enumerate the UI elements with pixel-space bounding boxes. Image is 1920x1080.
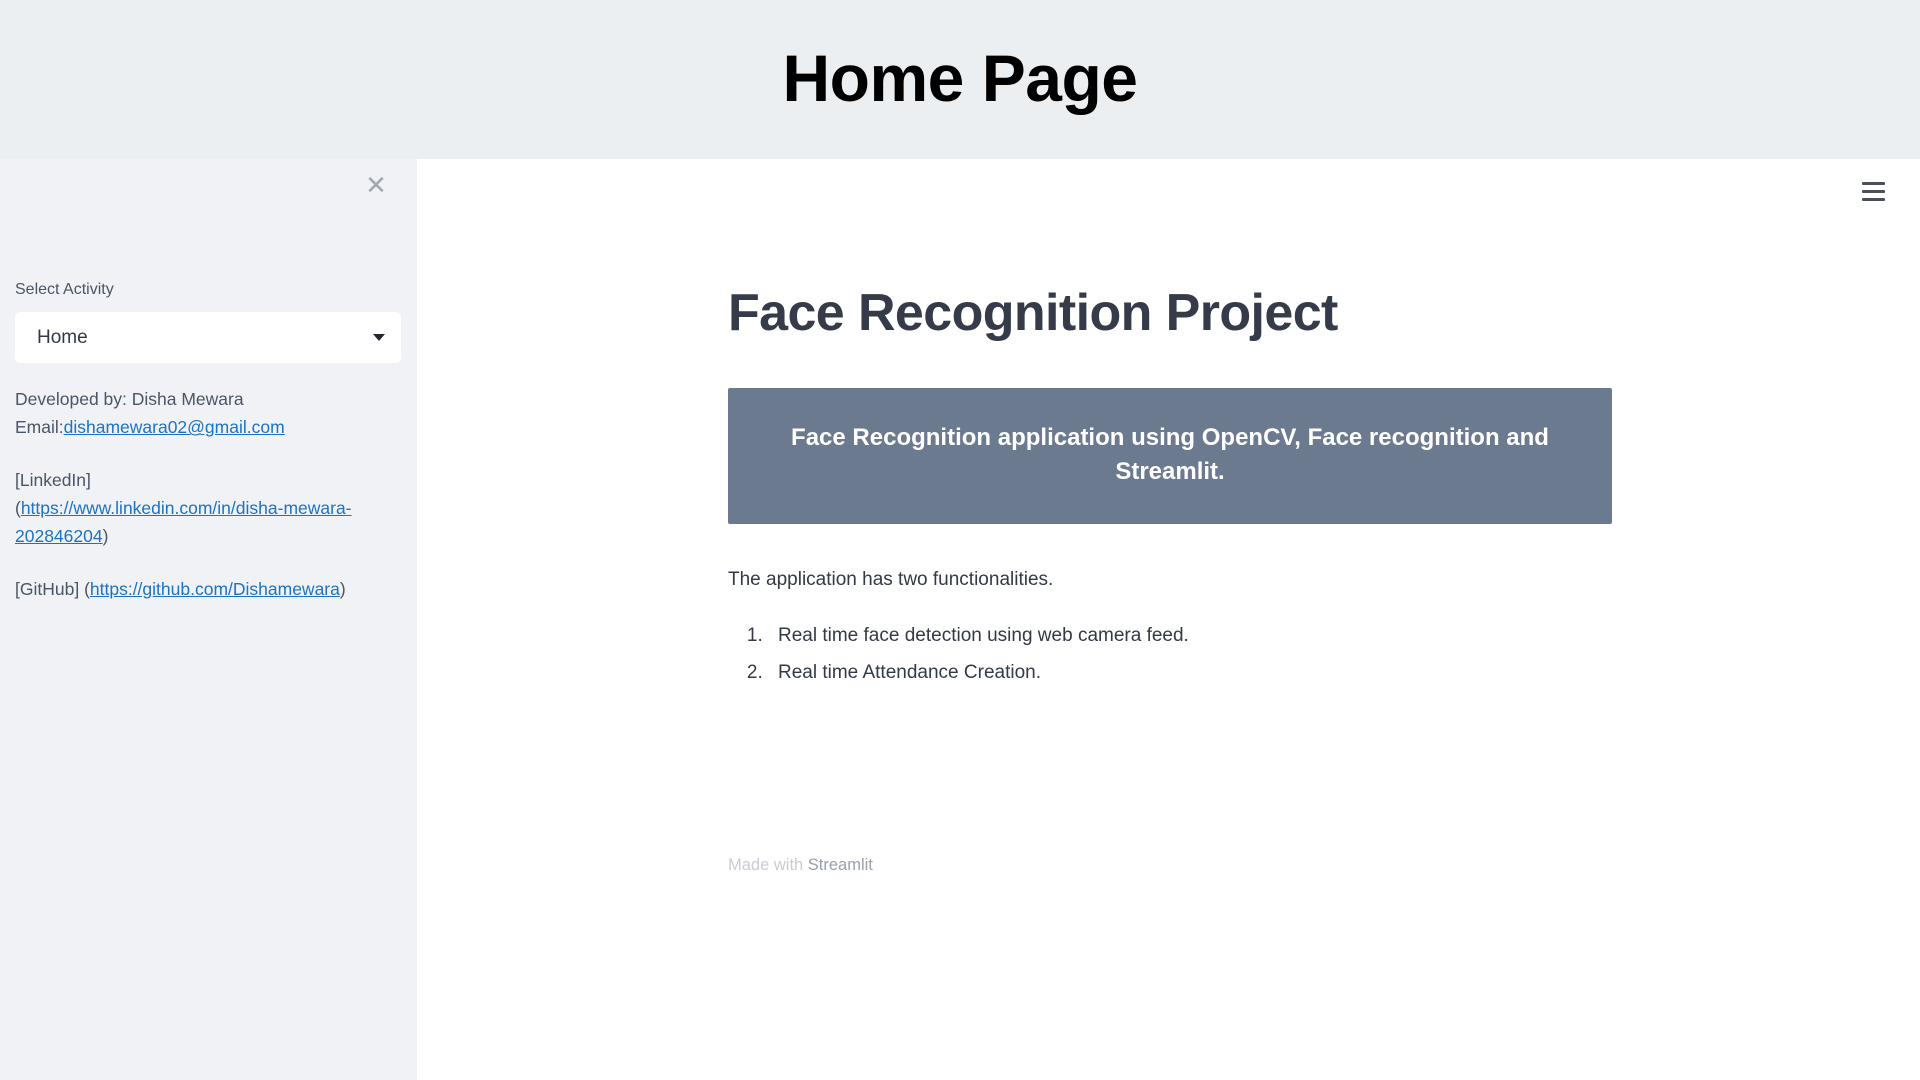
- footer-made-with: Made with: [728, 856, 808, 874]
- hamburger-bar-2: [1862, 190, 1885, 193]
- hamburger-menu-icon[interactable]: [1853, 171, 1893, 211]
- github-close-paren: ): [340, 579, 346, 599]
- hamburger-bar-3: [1862, 198, 1885, 201]
- linkedin-line: [LinkedIn] (https://www.linkedin.com/in/…: [15, 466, 401, 551]
- chevron-down-icon: [373, 334, 385, 341]
- intro-text: The application has two functionalities.: [728, 566, 1612, 595]
- email-link[interactable]: dishamewara02@gmail.com: [64, 417, 285, 437]
- github-link[interactable]: https://github.com/Dishamewara: [90, 579, 340, 599]
- hamburger-bar-1: [1862, 182, 1885, 185]
- features-list: Real time face detection using web camer…: [728, 621, 1612, 688]
- list-item: Real time face detection using web camer…: [768, 621, 1612, 650]
- email-prefix: Email:: [15, 417, 64, 437]
- github-line: [GitHub] (https://github.com/Dishamewara…: [15, 575, 401, 603]
- linkedin-close-paren: ): [103, 526, 109, 546]
- project-title: Face Recognition Project: [728, 285, 1612, 342]
- list-item: Real time Attendance Creation.: [768, 658, 1612, 687]
- developer-credit: Developed by: Disha Mewara Email:dishame…: [15, 385, 401, 442]
- app-header: Home Page: [0, 0, 1920, 159]
- select-activity-label: Select Activity: [15, 278, 401, 302]
- info-banner: Face Recognition application using OpenC…: [728, 388, 1612, 524]
- main-content: Face Recognition Project Face Recognitio…: [417, 159, 1920, 1080]
- page-title: Home Page: [783, 45, 1138, 111]
- content-block: Face Recognition Project Face Recognitio…: [728, 285, 1612, 696]
- sidebar-content: Select Activity Home Developed by: Disha…: [15, 278, 401, 603]
- activity-select[interactable]: Home: [15, 312, 401, 363]
- close-icon[interactable]: ✕: [359, 169, 393, 203]
- footer: Made with Streamlit: [728, 853, 873, 878]
- developed-by-text: Developed by: Disha Mewara: [15, 389, 244, 409]
- linkedin-label: [LinkedIn]: [15, 470, 91, 490]
- github-label: [GitHub]: [15, 579, 84, 599]
- linkedin-link[interactable]: https://www.linkedin.com/in/disha-mewara…: [15, 498, 352, 546]
- footer-brand[interactable]: Streamlit: [808, 856, 873, 874]
- sidebar: ✕ Select Activity Home Developed by: Dis…: [0, 159, 417, 1080]
- activity-select-value: Home: [37, 327, 88, 349]
